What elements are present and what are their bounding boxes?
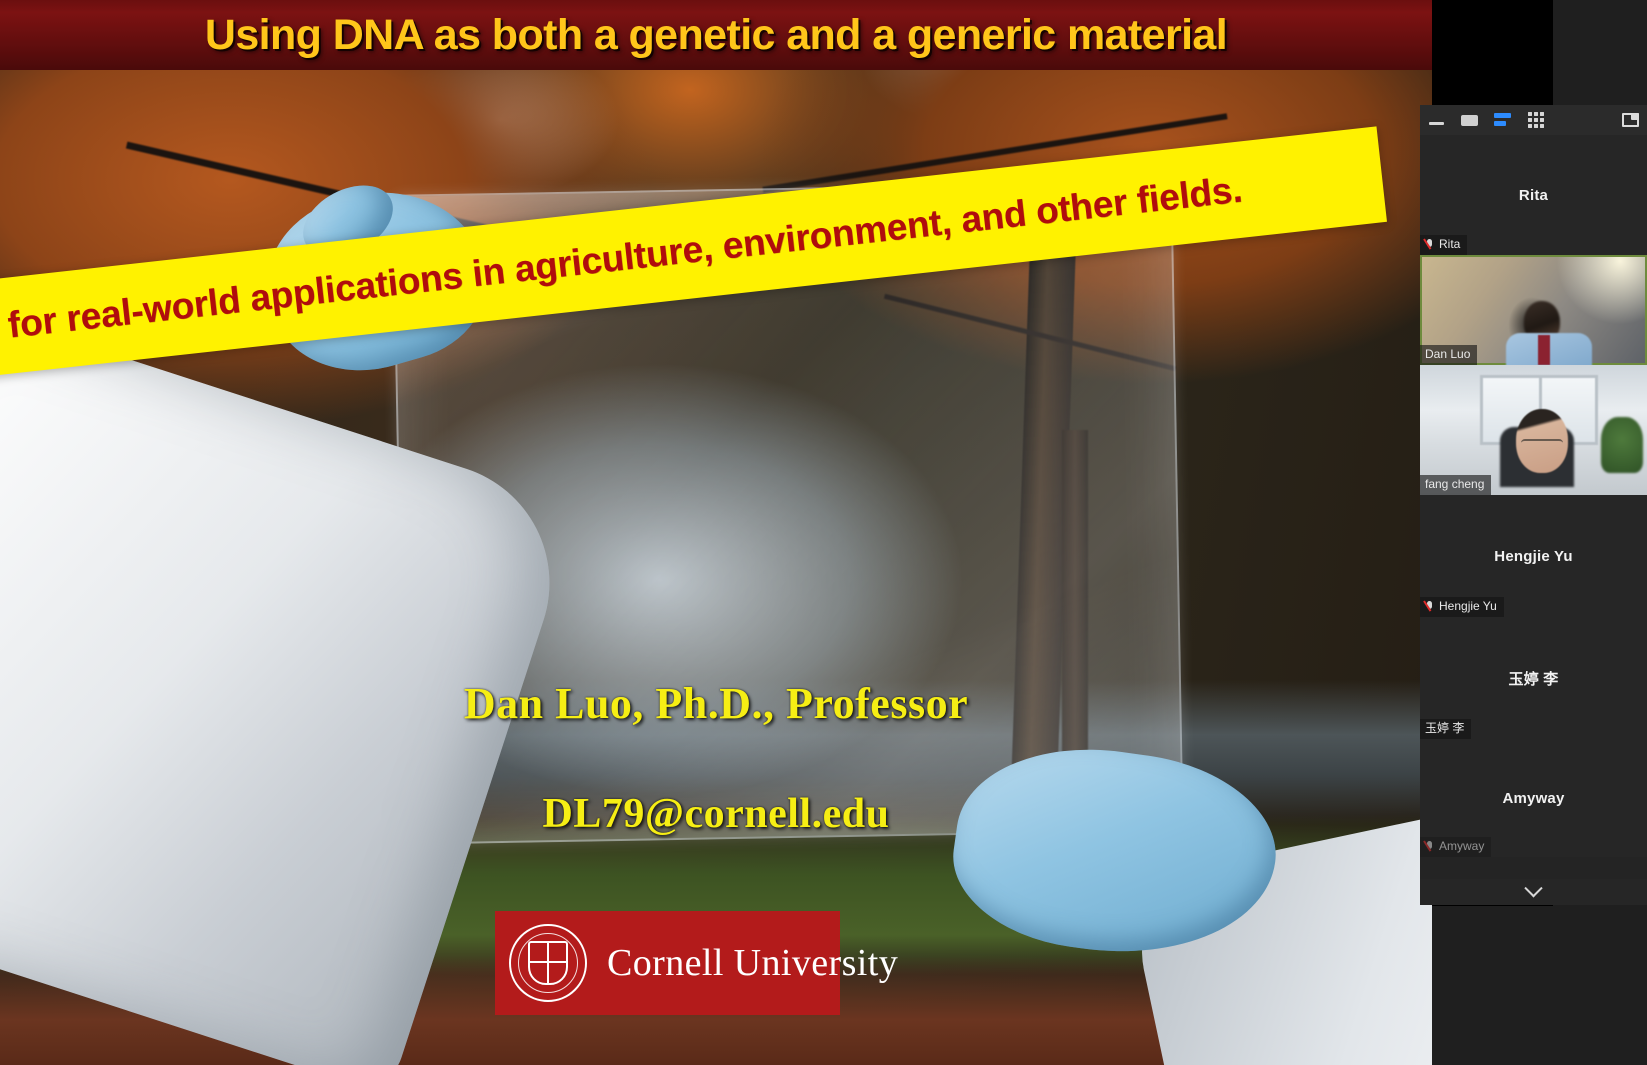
participant-display-name: Amyway xyxy=(1502,790,1564,807)
participant-name-label: 玉婷 李 xyxy=(1420,719,1471,739)
slide-title-bar: Using DNA as both a genetic and a generi… xyxy=(0,0,1432,70)
exit-fullscreen-icon[interactable] xyxy=(1622,112,1639,129)
video-person-tie xyxy=(1538,335,1550,365)
participant-name-label: Amyway xyxy=(1420,837,1491,857)
microphone-muted-icon xyxy=(1425,239,1434,251)
participant-tile-rita[interactable]: Rita Rita xyxy=(1420,135,1647,255)
participant-tile-fang-cheng[interactable]: fang cheng xyxy=(1420,365,1647,495)
maximize-icon[interactable] xyxy=(1461,112,1478,129)
shared-slide: Using DNA as both a genetic and a generi… xyxy=(0,0,1432,1065)
participant-label-text: fang cheng xyxy=(1425,477,1484,492)
participant-tile-amyway[interactable]: Amyway Amyway xyxy=(1420,739,1647,857)
participant-name-label: Dan Luo xyxy=(1420,345,1477,365)
presenter-name: Dan Luo, Ph.D., Professor xyxy=(0,678,1432,729)
participant-tile-hengjie-yu[interactable]: Hengjie Yu Hengjie Yu xyxy=(1420,495,1647,617)
microphone-muted-icon xyxy=(1425,841,1434,853)
participant-name-label: Hengjie Yu xyxy=(1420,597,1504,617)
zoom-participant-panel: Rita Rita Dan Luo xyxy=(1420,105,1647,905)
gallery-view-icon[interactable] xyxy=(1527,112,1544,129)
shield-icon xyxy=(528,941,568,985)
presenter-email: DL79@cornell.edu xyxy=(0,790,1432,838)
participant-tile-yuting-li[interactable]: 玉婷 李 玉婷 李 xyxy=(1420,617,1647,739)
participant-display-name: Rita xyxy=(1519,187,1548,204)
microphone-muted-icon xyxy=(1425,601,1434,613)
cornell-university-logo: Cornell University xyxy=(495,911,840,1015)
speaker-view-icon[interactable] xyxy=(1494,112,1511,129)
chevron-down-icon[interactable] xyxy=(1524,879,1542,897)
participant-tiles: Rita Rita Dan Luo xyxy=(1420,135,1647,879)
cornell-logo-text: Cornell University xyxy=(607,941,898,985)
participant-label-text: Dan Luo xyxy=(1425,347,1470,362)
video-background-plant xyxy=(1601,417,1643,473)
participant-label-text: 玉婷 李 xyxy=(1425,721,1464,736)
participant-name-label: Rita xyxy=(1420,235,1467,255)
participant-tile-dan-luo[interactable]: Dan Luo xyxy=(1420,255,1647,365)
participant-scroll-footer xyxy=(1420,879,1647,905)
minimize-icon[interactable] xyxy=(1428,112,1445,129)
participant-label-text: Hengjie Yu xyxy=(1439,599,1497,614)
participant-label-text: Amyway xyxy=(1439,839,1484,854)
video-person-glasses xyxy=(1521,439,1563,448)
zoom-window-toolbar xyxy=(1420,105,1647,135)
cornell-seal-icon xyxy=(509,924,587,1002)
participant-display-name: 玉婷 李 xyxy=(1509,668,1559,689)
slide-title: Using DNA as both a genetic and a generi… xyxy=(205,11,1227,60)
participant-name-label: fang cheng xyxy=(1420,475,1491,495)
participant-display-name: Hengjie Yu xyxy=(1494,548,1572,565)
screen-root: Using DNA as both a genetic and a generi… xyxy=(0,0,1647,1065)
participant-label-text: Rita xyxy=(1439,237,1460,252)
